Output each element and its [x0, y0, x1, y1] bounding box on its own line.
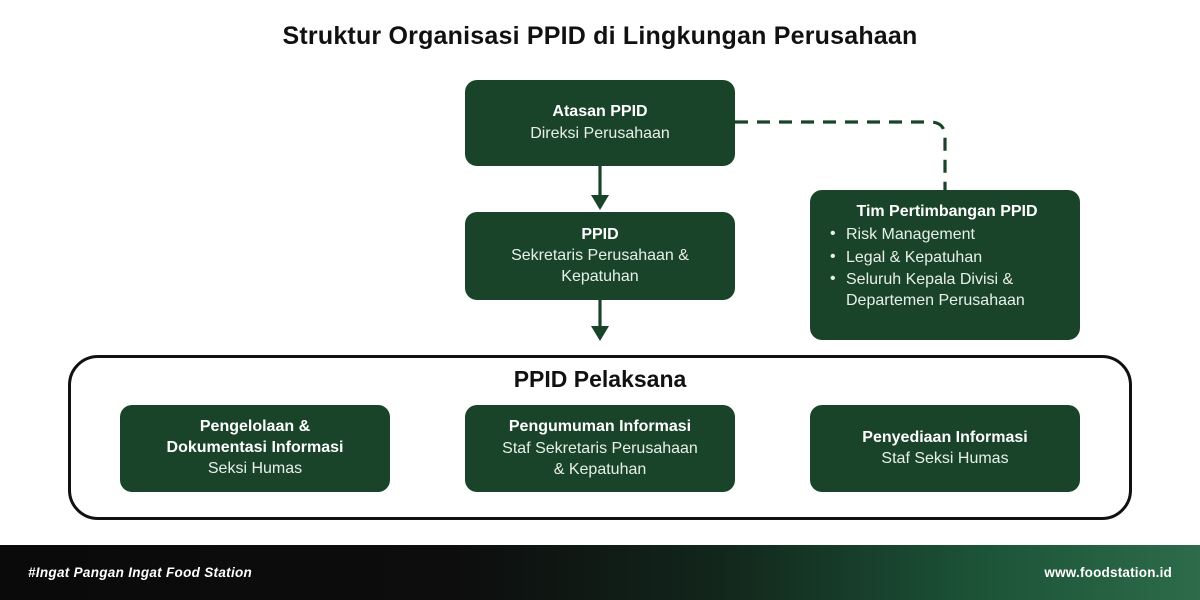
pelaksana-heading: PPID Pelaksana	[68, 366, 1132, 393]
list-item: Seluruh Kepala Divisi & Departemen Perus…	[828, 269, 1025, 312]
node-ppid-title: PPID	[581, 225, 618, 245]
node-penyediaan-informasi[interactable]: Penyediaan Informasi Staf Seksi Humas	[810, 405, 1080, 492]
node-p1-title-line2: Dokumentasi Informasi	[167, 438, 344, 458]
footer-hashtag: #Ingat Pangan Ingat Food Station	[28, 565, 252, 580]
tim-member-list: Risk Management Legal & Kepatuhan Seluru…	[828, 224, 1025, 312]
node-p1-subtitle: Seksi Humas	[208, 458, 302, 479]
node-p3-subtitle: Staf Seksi Humas	[881, 448, 1008, 469]
node-ppid-subtitle-line1: Sekretaris Perusahaan &	[511, 245, 689, 266]
diagram-canvas: Struktur Organisasi PPID di Lingkungan P…	[0, 0, 1200, 600]
list-item: Legal & Kepatuhan	[828, 247, 1025, 268]
list-item: Risk Management	[828, 224, 1025, 245]
node-ppid[interactable]: PPID Sekretaris Perusahaan & Kepatuhan	[465, 212, 735, 300]
node-p1-title-line1: Pengelolaan &	[200, 417, 310, 437]
node-atasan-ppid[interactable]: Atasan PPID Direksi Perusahaan	[465, 80, 735, 166]
connector-atasan-to-ppid	[591, 166, 609, 210]
node-tim-pertimbangan-ppid[interactable]: Tim Pertimbangan PPID Risk Management Le…	[810, 190, 1080, 340]
node-ppid-subtitle-line2: Kepatuhan	[561, 266, 638, 287]
list-item-line2: Departemen Perusahaan	[846, 290, 1025, 311]
connector-ppid-to-pelaksana	[591, 300, 609, 341]
node-p2-title: Pengumuman Informasi	[509, 417, 691, 437]
list-item-line1: Seluruh Kepala Divisi &	[846, 271, 1013, 288]
node-tim-title: Tim Pertimbangan PPID	[828, 202, 1066, 222]
node-atasan-title: Atasan PPID	[552, 102, 647, 122]
node-p3-title: Penyediaan Informasi	[862, 428, 1027, 448]
connector-atasan-to-tim	[735, 122, 945, 190]
footer-bar: #Ingat Pangan Ingat Food Station www.foo…	[0, 545, 1200, 600]
page-title: Struktur Organisasi PPID di Lingkungan P…	[0, 22, 1200, 51]
footer-website[interactable]: www.foodstation.id	[1044, 565, 1172, 580]
node-pengelolaan-dokumentasi-informasi[interactable]: Pengelolaan & Dokumentasi Informasi Seks…	[120, 405, 390, 492]
node-p2-subtitle-line2: & Kepatuhan	[554, 459, 647, 480]
node-p2-subtitle-line1: Staf Sekretaris Perusahaan	[502, 438, 698, 459]
node-atasan-subtitle: Direksi Perusahaan	[530, 123, 670, 144]
node-pengumuman-informasi[interactable]: Pengumuman Informasi Staf Sekretaris Per…	[465, 405, 735, 492]
